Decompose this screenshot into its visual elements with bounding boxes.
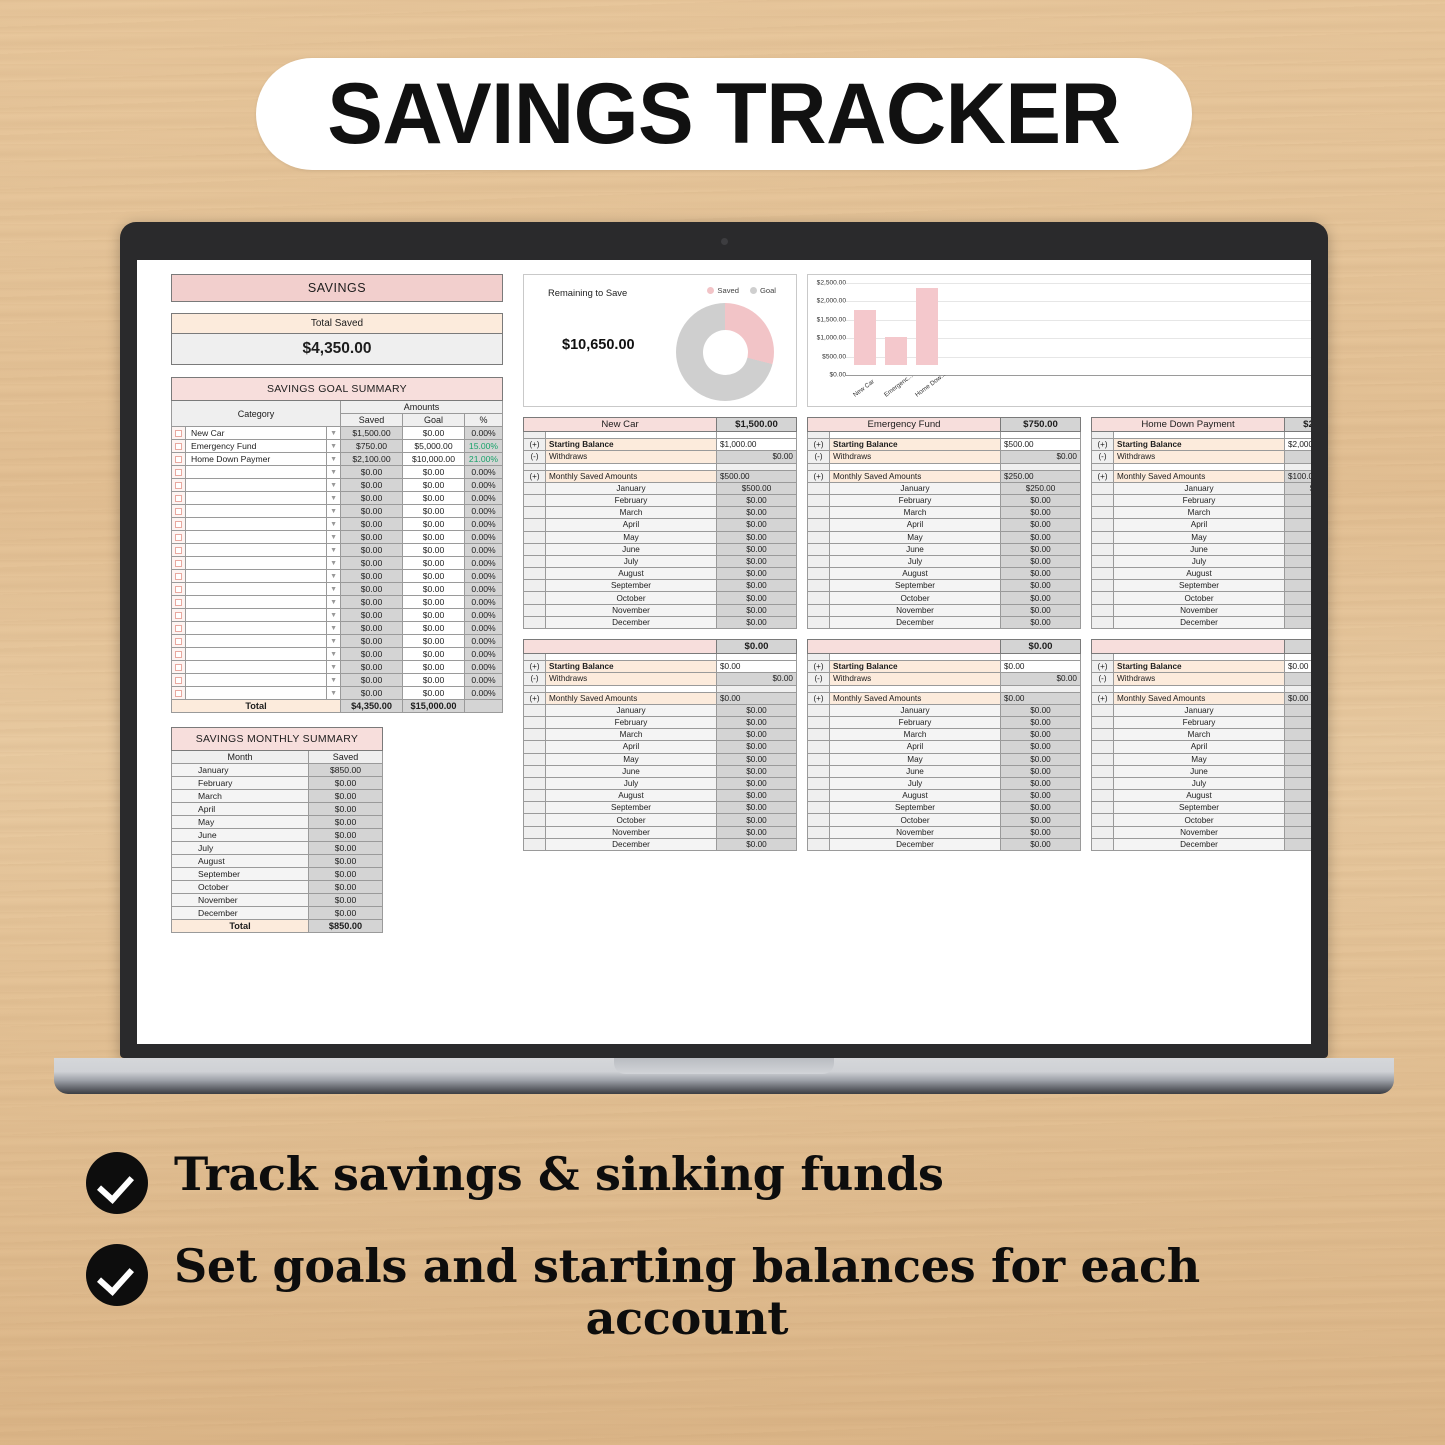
account-card: $0.00(+)Starting Balance$0.00(-)Withdraw… <box>523 639 797 851</box>
row-checkbox[interactable] <box>172 453 186 466</box>
table-row: (+)Monthly Saved Amounts$0.00 <box>524 692 797 704</box>
starting-balance-label: Starting Balance <box>830 661 1001 673</box>
account-month-value: $0.00 <box>717 826 797 838</box>
goal-cell[interactable]: $0.00 <box>403 687 465 700</box>
chevron-down-icon[interactable]: ▼ <box>327 687 341 700</box>
table-row: ▼$0.00$0.000.00% <box>172 466 503 479</box>
row-checkbox[interactable] <box>172 479 186 492</box>
account-month-value: $0.00 <box>1285 826 1312 838</box>
goal-cell[interactable]: $0.00 <box>403 531 465 544</box>
goal-cell[interactable]: $0.00 <box>403 505 465 518</box>
account-month-label: August <box>546 568 717 580</box>
monthly-saved-label: Monthly Saved Amounts <box>546 470 717 482</box>
goal-cell[interactable]: $0.00 <box>403 518 465 531</box>
table-row: November$0.00 <box>808 826 1081 838</box>
account-month-label: January <box>546 482 717 494</box>
goal-total-goal: $15,000.00 <box>403 700 465 713</box>
bullet-row: Set goals and starting balances for each… <box>0 1240 1445 1345</box>
category-cell[interactable] <box>186 687 327 700</box>
account-month-value: $0.00 <box>1285 729 1312 741</box>
account-month-label: September <box>830 580 1001 592</box>
table-row: December$0.00 <box>808 616 1081 628</box>
account-month-label: October <box>546 592 717 604</box>
account-month-label: November <box>546 826 717 838</box>
table-row: February$0.00 <box>808 716 1081 728</box>
table-row: October$0.00 <box>524 814 797 826</box>
goal-cell[interactable]: $0.00 <box>403 466 465 479</box>
table-row: February$0.00 <box>172 777 383 790</box>
account-table: $0.00(+)Starting Balance$0.00(-)Withdraw… <box>807 639 1081 851</box>
x-axis-label: New Car <box>852 380 874 399</box>
month-saved-cell: $0.00 <box>309 803 383 816</box>
account-month-label: May <box>1114 531 1285 543</box>
saved-cell: $0.00 <box>341 466 403 479</box>
plus-sign: (+) <box>808 692 830 704</box>
category-cell[interactable]: New Car <box>186 427 327 440</box>
account-month-value: $0.00 <box>1001 507 1081 519</box>
monthly-saved-label: Monthly Saved Amounts <box>546 692 717 704</box>
row-checkbox[interactable] <box>172 557 186 570</box>
table-row: May$0.00 <box>1092 531 1312 543</box>
row-checkbox[interactable] <box>172 635 186 648</box>
category-cell[interactable] <box>186 583 327 596</box>
account-month-value: $0.00 <box>717 543 797 555</box>
starting-balance-value[interactable]: $500.00 <box>1001 439 1081 451</box>
account-cards-row-1: New Car$1,500.00(+)Starting Balance$1,00… <box>523 417 1311 629</box>
category-cell[interactable] <box>186 492 327 505</box>
row-checkbox[interactable] <box>172 518 186 531</box>
goal-total-saved: $4,350.00 <box>341 700 403 713</box>
account-month-value: $0.00 <box>1285 616 1312 628</box>
table-row: (+)Monthly Saved Amounts$100.00 <box>1092 470 1312 482</box>
account-month-value: $0.00 <box>717 519 797 531</box>
chevron-down-icon[interactable]: ▼ <box>327 609 341 622</box>
saved-cell: $0.00 <box>341 583 403 596</box>
monthly-saved-total: $500.00 <box>717 470 797 482</box>
month-saved-cell: $0.00 <box>309 855 383 868</box>
monthly-saved-label: Monthly Saved Amounts <box>1114 470 1285 482</box>
pct-cell: 0.00% <box>465 492 503 505</box>
table-row: September$0.00 <box>524 580 797 592</box>
chevron-down-icon[interactable]: ▼ <box>327 453 341 466</box>
table-row: (+)Starting Balance$500.00 <box>808 439 1081 451</box>
starting-balance-value[interactable]: $0.00 <box>1001 661 1081 673</box>
chevron-down-icon[interactable]: ▼ <box>327 440 341 453</box>
row-checkbox[interactable] <box>172 648 186 661</box>
account-month-label: September <box>546 580 717 592</box>
table-row: August$0.00 <box>808 568 1081 580</box>
row-checkbox[interactable] <box>172 570 186 583</box>
account-name[interactable] <box>1092 640 1285 654</box>
row-checkbox[interactable] <box>172 661 186 674</box>
goal-cell[interactable]: $0.00 <box>403 557 465 570</box>
starting-balance-value[interactable]: $1,000.00 <box>717 439 797 451</box>
category-cell[interactable] <box>186 609 327 622</box>
chevron-down-icon[interactable]: ▼ <box>327 570 341 583</box>
table-row: September$0.00 <box>172 868 383 881</box>
account-month-value: $0.00 <box>717 790 797 802</box>
table-row: December$0.00 <box>172 907 383 920</box>
chevron-down-icon[interactable]: ▼ <box>327 505 341 518</box>
minus-sign: (-) <box>1092 673 1114 685</box>
account-month-value: $0.00 <box>1285 704 1312 716</box>
pct-cell: 0.00% <box>465 531 503 544</box>
table-row: January$0.00 <box>524 704 797 716</box>
account-card: Emergency Fund$750.00(+)Starting Balance… <box>807 417 1081 629</box>
goal-cell[interactable]: $0.00 <box>403 648 465 661</box>
account-month-label: June <box>546 543 717 555</box>
account-month-value: $0.00 <box>1001 729 1081 741</box>
month-saved-cell: $0.00 <box>309 868 383 881</box>
table-row: (-)Withdraws$0.00 <box>808 673 1081 685</box>
category-cell[interactable] <box>186 466 327 479</box>
account-month-value: $0.00 <box>1285 753 1312 765</box>
category-cell[interactable] <box>186 557 327 570</box>
category-cell[interactable] <box>186 596 327 609</box>
table-row: September$0.00 <box>524 802 797 814</box>
row-checkbox[interactable] <box>172 531 186 544</box>
row-checkbox[interactable] <box>172 687 186 700</box>
saved-cell: $0.00 <box>341 492 403 505</box>
account-month-label: April <box>830 519 1001 531</box>
starting-balance-label: Starting Balance <box>1114 661 1285 673</box>
table-row: July$0.00 <box>808 777 1081 789</box>
account-month-label: May <box>830 531 1001 543</box>
saved-cell: $0.00 <box>341 596 403 609</box>
table-row: ▼$0.00$0.000.00% <box>172 635 503 648</box>
page-title-pill: SAVINGS TRACKER <box>256 58 1192 170</box>
category-cell[interactable] <box>186 648 327 661</box>
account-month-value: $0.00 <box>1001 838 1081 850</box>
account-month-label: June <box>546 765 717 777</box>
account-month-label: May <box>830 753 1001 765</box>
account-month-label: October <box>1114 814 1285 826</box>
account-month-value: $0.00 <box>717 753 797 765</box>
saved-cell: $0.00 <box>341 648 403 661</box>
category-cell[interactable] <box>186 505 327 518</box>
legend-swatch-saved <box>707 287 714 294</box>
account-month-value: $0.00 <box>717 580 797 592</box>
account-month-value: $0.00 <box>1001 802 1081 814</box>
page-title: SAVINGS TRACKER <box>327 71 1120 157</box>
table-row: (+)Monthly Saved Amounts$250.00 <box>808 470 1081 482</box>
account-table: New Car$1,500.00(+)Starting Balance$1,00… <box>523 417 797 629</box>
table-row: January$500.00 <box>524 482 797 494</box>
account-month-value: $0.00 <box>1285 790 1312 802</box>
month-saved-cell: $0.00 <box>309 881 383 894</box>
category-cell[interactable] <box>186 661 327 674</box>
account-month-label: July <box>546 777 717 789</box>
plus-sign: (+) <box>524 470 546 482</box>
table-row: February$0.00 <box>1092 716 1312 728</box>
y-axis-tick: $1,000.00 <box>817 335 846 342</box>
chevron-down-icon[interactable]: ▼ <box>327 427 341 440</box>
goal-cell[interactable]: $0.00 <box>403 570 465 583</box>
table-row: September$0.00 <box>808 802 1081 814</box>
savings-banner: SAVINGS <box>172 275 503 302</box>
bar <box>916 288 938 365</box>
laptop-screen: SAVINGS Total Saved $4,350.00 SAVINGS GO… <box>137 260 1311 1044</box>
chevron-down-icon[interactable]: ▼ <box>327 661 341 674</box>
chevron-down-icon[interactable]: ▼ <box>327 622 341 635</box>
chevron-down-icon[interactable]: ▼ <box>327 518 341 531</box>
table-row: August$0.00 <box>1092 568 1312 580</box>
category-cell[interactable]: Emergency Fund <box>186 440 327 453</box>
account-month-value: $0.00 <box>1285 592 1312 604</box>
account-month-value: $0.00 <box>1285 765 1312 777</box>
account-month-label: December <box>1114 616 1285 628</box>
goal-cell[interactable]: $0.00 <box>403 544 465 557</box>
row-checkbox[interactable] <box>172 609 186 622</box>
table-row: March$0.00 <box>172 790 383 803</box>
account-month-label: August <box>830 790 1001 802</box>
account-month-value: $0.00 <box>717 704 797 716</box>
category-cell[interactable] <box>186 518 327 531</box>
row-checkbox[interactable] <box>172 492 186 505</box>
starting-balance-value[interactable]: $0.00 <box>717 661 797 673</box>
chevron-down-icon[interactable]: ▼ <box>327 544 341 557</box>
pct-cell: 0.00% <box>465 648 503 661</box>
chevron-down-icon[interactable]: ▼ <box>327 648 341 661</box>
account-total: $0.00 <box>1285 640 1312 654</box>
category-cell[interactable] <box>186 479 327 492</box>
chevron-down-icon[interactable]: ▼ <box>327 596 341 609</box>
table-row: (-)Withdraws$0.00 <box>524 673 797 685</box>
goal-cell[interactable]: $0.00 <box>403 622 465 635</box>
table-row: ▼$0.00$0.000.00% <box>172 531 503 544</box>
pct-cell: 0.00% <box>465 674 503 687</box>
account-month-value: $0.00 <box>1001 753 1081 765</box>
goal-cell[interactable]: $0.00 <box>403 596 465 609</box>
withdraws-value: $0.00 <box>1001 673 1081 685</box>
account-month-label: June <box>1114 765 1285 777</box>
month-saved-cell: $0.00 <box>309 816 383 829</box>
account-name[interactable]: New Car <box>524 418 717 432</box>
goal-cell[interactable]: $0.00 <box>403 609 465 622</box>
account-month-value: $0.00 <box>1001 592 1081 604</box>
saved-cell: $0.00 <box>341 622 403 635</box>
row-checkbox[interactable] <box>172 505 186 518</box>
goal-cell[interactable]: $0.00 <box>403 674 465 687</box>
table-row: May$0.00 <box>1092 753 1312 765</box>
monthly-total-label: Total <box>172 920 309 933</box>
account-card: $0.00(+)Starting Balance$0.00(-)Withdraw… <box>807 639 1081 851</box>
account-name[interactable] <box>524 640 717 654</box>
saved-cell: $0.00 <box>341 479 403 492</box>
savings-goal-summary-table: SAVINGS GOAL SUMMARY Category Amounts Sa… <box>171 377 503 713</box>
account-month-label: February <box>546 494 717 506</box>
saved-cell: $0.00 <box>341 661 403 674</box>
category-cell[interactable] <box>186 531 327 544</box>
account-month-label: March <box>546 729 717 741</box>
account-month-label: November <box>830 604 1001 616</box>
account-month-label: November <box>830 826 1001 838</box>
month-cell: April <box>172 803 309 816</box>
month-saved-cell: $0.00 <box>309 829 383 842</box>
account-month-value: $0.00 <box>1001 555 1081 567</box>
account-month-value: $0.00 <box>1001 580 1081 592</box>
table-row: October$0.00 <box>524 592 797 604</box>
pct-cell: 0.00% <box>465 505 503 518</box>
table-row: January$0.00 <box>1092 704 1312 716</box>
table-row: ▼$0.00$0.000.00% <box>172 609 503 622</box>
monthly-saved-total: $0.00 <box>1285 692 1312 704</box>
account-name[interactable]: Home Down Payment <box>1092 418 1285 432</box>
account-month-label: September <box>830 802 1001 814</box>
table-row: April$0.00 <box>524 741 797 753</box>
account-month-value: $0.00 <box>1285 777 1312 789</box>
pct-cell: 15.00% <box>465 440 503 453</box>
account-month-value: $0.00 <box>1285 519 1312 531</box>
account-month-label: December <box>830 838 1001 850</box>
table-row: June$0.00 <box>1092 765 1312 777</box>
table-row: September$0.00 <box>1092 802 1312 814</box>
account-month-label: December <box>830 616 1001 628</box>
account-month-label: June <box>830 543 1001 555</box>
account-month-label: August <box>1114 568 1285 580</box>
category-cell[interactable] <box>186 635 327 648</box>
month-cell: November <box>172 894 309 907</box>
account-month-value: $0.00 <box>717 507 797 519</box>
table-row: April$0.00 <box>1092 741 1312 753</box>
starting-balance-value[interactable]: $2,000.00 <box>1285 439 1312 451</box>
table-row: (+)Starting Balance$0.00 <box>1092 661 1312 673</box>
starting-balance-value[interactable]: $0.00 <box>1285 661 1312 673</box>
category-cell[interactable] <box>186 544 327 557</box>
table-row: ▼$0.00$0.000.00% <box>172 648 503 661</box>
monthly-saved-label: Monthly Saved Amounts <box>1114 692 1285 704</box>
account-name[interactable] <box>808 640 1001 654</box>
table-row: March$0.00 <box>1092 729 1312 741</box>
goal-cell[interactable]: $0.00 <box>403 427 465 440</box>
account-month-label: January <box>1114 704 1285 716</box>
account-month-label: April <box>830 741 1001 753</box>
account-total: $0.00 <box>1001 640 1081 654</box>
monthly-summary-title: SAVINGS MONTHLY SUMMARY <box>172 728 383 751</box>
table-row: November$0.00 <box>1092 826 1312 838</box>
pct-cell: 0.00% <box>465 518 503 531</box>
table-row: January$100.00 <box>1092 482 1312 494</box>
row-checkbox[interactable] <box>172 622 186 635</box>
saved-cell: $1,500.00 <box>341 427 403 440</box>
account-table: $0.00(+)Starting Balance$0.00(-)Withdraw… <box>523 639 797 851</box>
check-circle-icon <box>86 1244 148 1306</box>
account-month-label: October <box>1114 592 1285 604</box>
table-row: June$0.00 <box>524 765 797 777</box>
table-row: February$0.00 <box>1092 494 1312 506</box>
row-checkbox[interactable] <box>172 544 186 557</box>
account-month-label: March <box>830 729 1001 741</box>
goal-cell[interactable]: $0.00 <box>403 492 465 505</box>
account-month-value: $0.00 <box>717 531 797 543</box>
pct-cell: 0.00% <box>465 427 503 440</box>
account-month-value: $0.00 <box>717 568 797 580</box>
table-row: November$0.00 <box>1092 604 1312 616</box>
account-month-value: $0.00 <box>1001 494 1081 506</box>
account-month-value: $0.00 <box>717 802 797 814</box>
saved-cell: $0.00 <box>341 674 403 687</box>
account-month-value: $0.00 <box>1285 814 1312 826</box>
account-month-label: October <box>546 814 717 826</box>
row-checkbox[interactable] <box>172 596 186 609</box>
saved-cell: $0.00 <box>341 505 403 518</box>
col-header-goal: Goal <box>403 414 465 427</box>
row-checkbox[interactable] <box>172 427 186 440</box>
goal-cell[interactable]: $0.00 <box>403 479 465 492</box>
month-cell: May <box>172 816 309 829</box>
category-cell[interactable] <box>186 674 327 687</box>
x-axis-label: Emergenc... <box>883 380 905 399</box>
total-saved-table: Total Saved $4,350.00 <box>171 313 503 365</box>
chevron-down-icon[interactable]: ▼ <box>327 635 341 648</box>
account-name[interactable]: Emergency Fund <box>808 418 1001 432</box>
goal-cell[interactable]: $5,000.00 <box>403 440 465 453</box>
chevron-down-icon[interactable]: ▼ <box>327 492 341 505</box>
row-checkbox[interactable] <box>172 674 186 687</box>
monthly-summary-rows: January$850.00February$0.00March$0.00Apr… <box>172 764 383 920</box>
chevron-down-icon[interactable]: ▼ <box>327 466 341 479</box>
plus-sign: (+) <box>524 439 546 451</box>
table-row: April$0.00 <box>524 519 797 531</box>
account-month-label: August <box>830 568 1001 580</box>
minus-sign: (-) <box>808 673 830 685</box>
table-row: September$0.00 <box>1092 580 1312 592</box>
row-checkbox[interactable] <box>172 583 186 596</box>
account-month-value: $0.00 <box>717 716 797 728</box>
total-saved-value: $4,350.00 <box>172 334 503 365</box>
chevron-down-icon[interactable]: ▼ <box>327 583 341 596</box>
bullet-text-line1: Set goals and starting balances for each <box>174 1239 1200 1293</box>
goal-cell[interactable]: $0.00 <box>403 635 465 648</box>
row-checkbox[interactable] <box>172 466 186 479</box>
account-month-label: May <box>546 531 717 543</box>
chevron-down-icon[interactable]: ▼ <box>327 479 341 492</box>
category-cell[interactable] <box>186 570 327 583</box>
account-month-value: $0.00 <box>1285 555 1312 567</box>
account-month-label: July <box>830 555 1001 567</box>
table-row: June$0.00 <box>172 829 383 842</box>
table-row: ▼$0.00$0.000.00% <box>172 557 503 570</box>
minus-sign: (-) <box>1092 451 1114 463</box>
table-row: ▼$0.00$0.000.00% <box>172 479 503 492</box>
monthly-col-header-saved: Saved <box>309 751 383 764</box>
account-month-label: November <box>1114 604 1285 616</box>
pct-cell: 0.00% <box>465 466 503 479</box>
chevron-down-icon[interactable]: ▼ <box>327 674 341 687</box>
chevron-down-icon[interactable]: ▼ <box>327 557 341 570</box>
right-column: Remaining to Save Saved Goal $10,650.00 <box>523 274 1311 851</box>
account-total: $750.00 <box>1001 418 1081 432</box>
category-cell[interactable]: Home Down Paymer <box>186 453 327 466</box>
category-cell[interactable] <box>186 622 327 635</box>
minus-sign: (-) <box>808 451 830 463</box>
legend-swatch-goal <box>750 287 757 294</box>
account-month-label: June <box>1114 543 1285 555</box>
account-month-label: September <box>1114 580 1285 592</box>
laptop-base <box>54 1058 1394 1094</box>
account-month-label: February <box>1114 494 1285 506</box>
account-month-label: August <box>546 790 717 802</box>
account-month-value: $0.00 <box>1001 704 1081 716</box>
bullet-text: Set goals and starting balances for each… <box>174 1240 1200 1345</box>
row-checkbox[interactable] <box>172 440 186 453</box>
goal-cell[interactable]: $10,000.00 <box>403 453 465 466</box>
chevron-down-icon[interactable]: ▼ <box>327 531 341 544</box>
table-row: May$0.00 <box>524 753 797 765</box>
goal-cell[interactable]: $0.00 <box>403 583 465 596</box>
account-month-label: March <box>546 507 717 519</box>
goal-cell[interactable]: $0.00 <box>403 661 465 674</box>
